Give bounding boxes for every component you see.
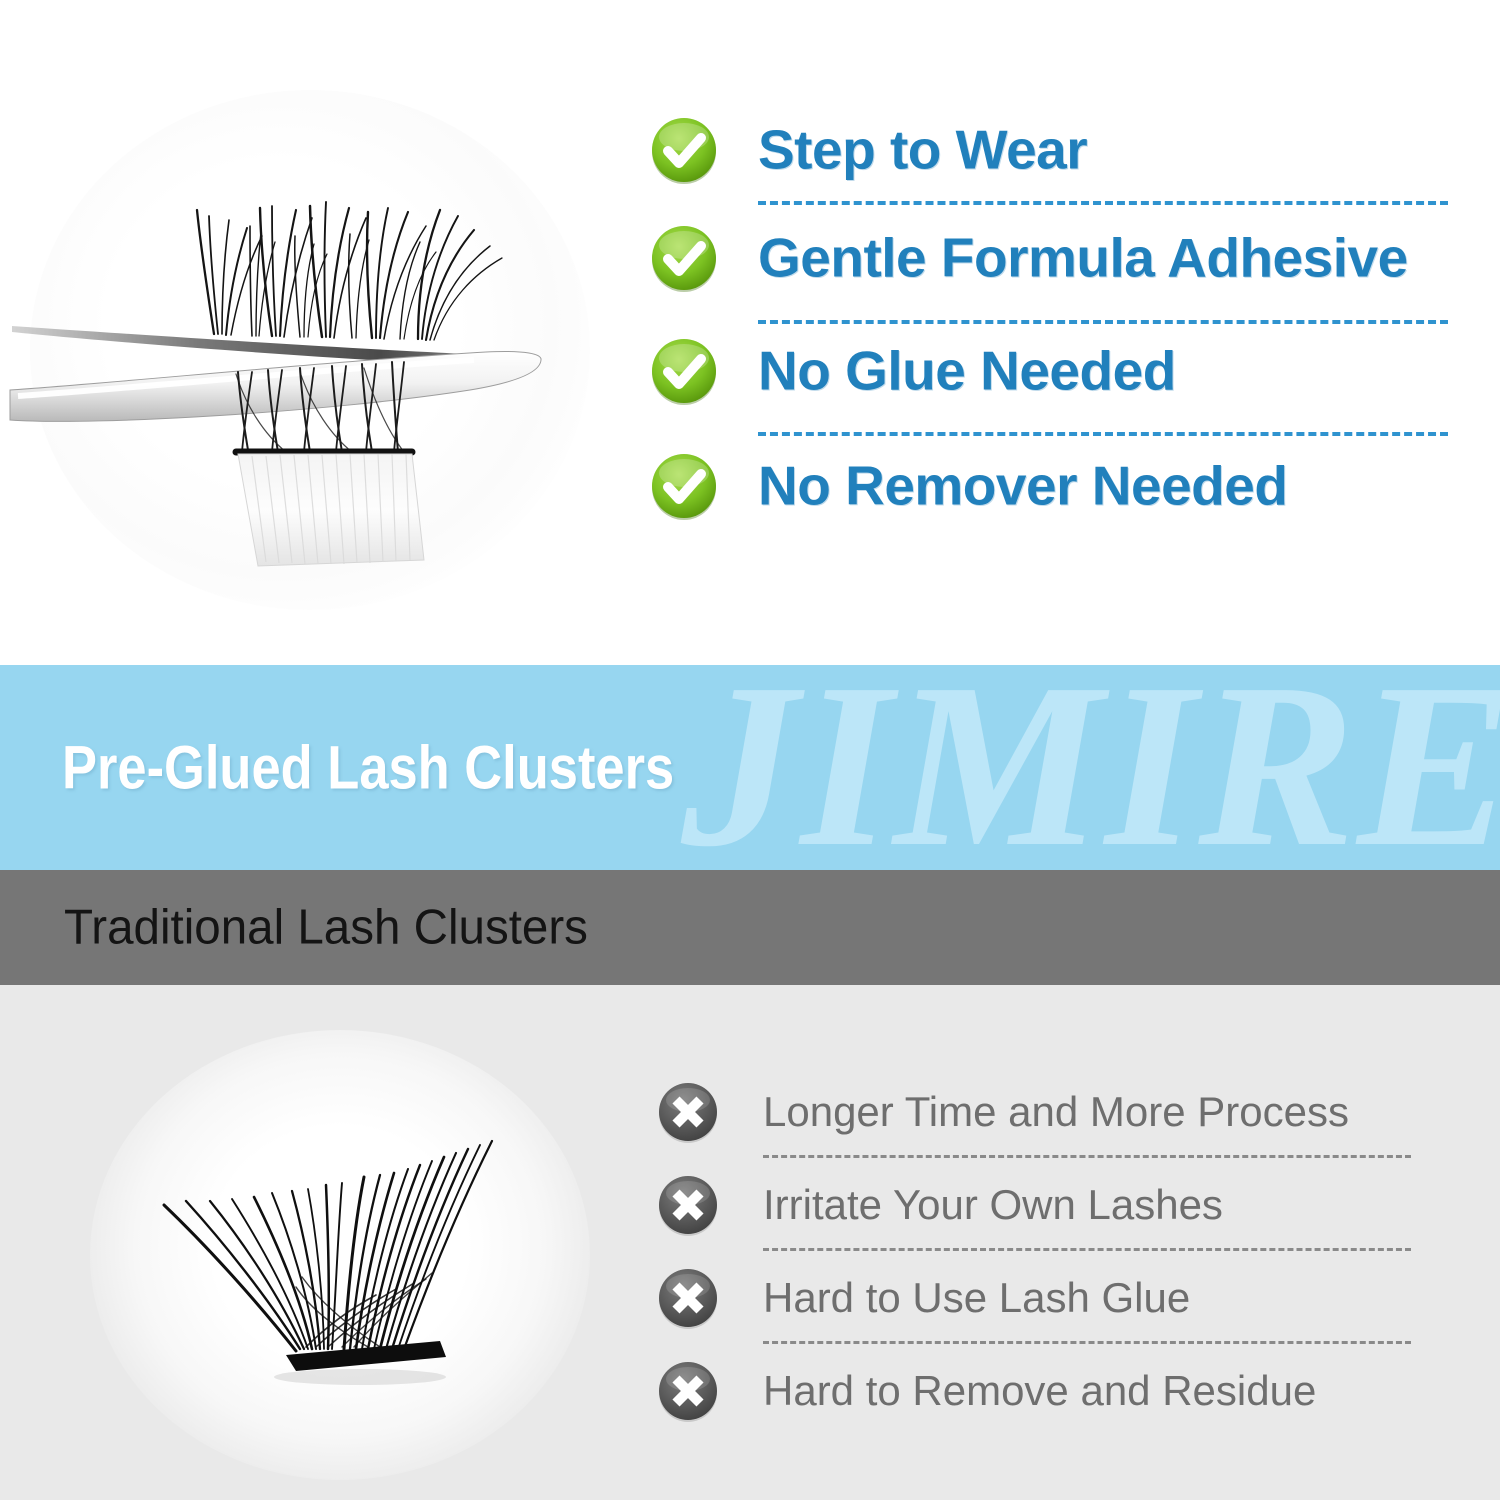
lash-cluster-tweezers-illustration <box>0 60 620 640</box>
drawback-list: Longer Time and More Process Irritate Yo… <box>655 1065 1415 1437</box>
feature-row: Gentle Formula Adhesive <box>648 204 1448 312</box>
feature-list: Step to Wear Gentle Formula Adhesive <box>648 96 1448 542</box>
x-circle-icon <box>655 1358 721 1424</box>
x-circle-icon <box>655 1265 721 1331</box>
drawback-row: Hard to Use Lash Glue <box>655 1251 1415 1344</box>
feature-label: Step to Wear <box>758 123 1087 178</box>
pre-glued-product-photo <box>0 60 620 640</box>
pre-glued-section: Step to Wear Gentle Formula Adhesive <box>0 0 1500 665</box>
drawback-label: Irritate Your Own Lashes <box>763 1184 1223 1226</box>
pre-glued-banner: JIMIRE Pre-Glued Lash Clusters <box>0 665 1500 870</box>
drawback-label: Hard to Remove and Residue <box>763 1370 1316 1412</box>
drawback-row: Irritate Your Own Lashes <box>655 1158 1415 1251</box>
traditional-banner: Traditional Lash Clusters <box>0 870 1500 985</box>
feature-row: No Remover Needed <box>648 430 1448 542</box>
drawback-row: Longer Time and More Process <box>655 1065 1415 1158</box>
drawback-divider <box>763 1248 1411 1251</box>
check-circle-icon <box>648 335 720 407</box>
drawback-row: Hard to Remove and Residue <box>655 1344 1415 1437</box>
feature-divider <box>758 432 1448 436</box>
brand-watermark: JIMIRE <box>681 665 1500 870</box>
check-circle-icon <box>648 114 720 186</box>
check-circle-icon <box>648 222 720 294</box>
feature-label: No Glue Needed <box>758 344 1176 399</box>
feature-divider <box>758 201 1448 205</box>
feature-row: No Glue Needed <box>648 312 1448 430</box>
drawback-label: Longer Time and More Process <box>763 1091 1349 1133</box>
pre-glued-banner-title: Pre-Glued Lash Clusters <box>62 737 674 798</box>
x-circle-icon <box>655 1079 721 1145</box>
drawback-label: Hard to Use Lash Glue <box>763 1277 1190 1319</box>
traditional-banner-title: Traditional Lash Clusters <box>64 903 588 952</box>
feature-label: No Remover Needed <box>758 459 1287 514</box>
drawback-divider <box>763 1155 1411 1158</box>
traditional-product-photo <box>60 1005 620 1485</box>
drawback-divider <box>763 1341 1411 1344</box>
check-circle-icon <box>648 450 720 522</box>
comparison-infographic: Step to Wear Gentle Formula Adhesive <box>0 0 1500 1500</box>
x-circle-icon <box>655 1172 721 1238</box>
traditional-lash-cluster-illustration <box>60 1005 620 1485</box>
feature-label: Gentle Formula Adhesive <box>758 231 1408 286</box>
feature-divider <box>758 320 1448 324</box>
feature-row: Step to Wear <box>648 96 1448 204</box>
